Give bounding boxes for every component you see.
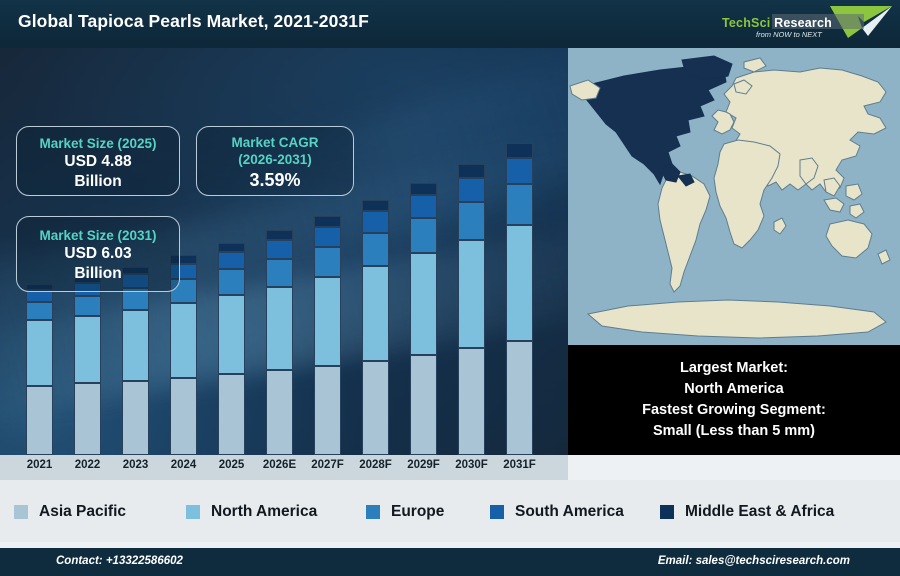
bar-segment-north-america [266,287,293,371]
legend-item-europe[interactable]: Europe [366,503,444,521]
x-axis-label-2031F: 2031F [496,459,544,471]
x-axis-label-2023: 2023 [112,459,160,471]
legend-item-north-america[interactable]: North America [186,503,317,521]
bar-segment-asia-pacific [314,366,341,455]
chart-legend: Asia PacificNorth AmericaEuropeSouth Ame… [0,480,900,542]
logo-tech-text: TechSci [722,16,770,30]
bar-segment-europe [314,247,341,277]
bar-segment-middle-east-africa [266,230,293,240]
header-bar: Global Tapioca Pearls Market, 2021-2031F… [0,0,900,48]
bar-segment-asia-pacific [506,341,533,455]
stat-card-market-size-2031: Market Size (2031) USD 6.03 Billion [16,216,180,292]
stat-label: Market Size (2025) [17,135,179,152]
legend-item-south-america[interactable]: South America [490,503,624,521]
bar-segment-south-america [458,178,485,202]
stat-label: Market CAGR [197,134,353,151]
x-axis-label-2024: 2024 [160,459,208,471]
bar-segment-north-america [362,266,389,361]
bar-segment-asia-pacific [74,383,101,455]
x-axis-label-2025: 2025 [208,459,256,471]
bar-segment-asia-pacific [410,355,437,455]
legend-swatch [490,505,504,519]
bar-2022 [74,276,101,455]
bar-segment-middle-east-africa [458,164,485,178]
x-axis-label-2030F: 2030F [448,459,496,471]
techsci-research-logo: TechSci Research from NOW to NEXT [712,2,894,46]
bar-segment-south-america [410,195,437,218]
bar-2028F [362,200,389,455]
bar-2023 [122,267,149,455]
info-line-2: North America [684,379,783,400]
bar-segment-north-america [458,240,485,348]
logo-wordmark: TechSci Research [722,16,872,30]
footer-bar: Contact: +13322586602 Email: sales@techs… [0,548,900,576]
x-axis: 202120222023202420252026E2027F2028F2029F… [0,455,568,480]
bar-segment-asia-pacific [266,370,293,455]
bar-segment-south-america [506,158,533,184]
bar-segment-middle-east-africa [314,216,341,227]
info-line-3: Fastest Growing Segment: [642,400,826,421]
bar-segment-asia-pacific [362,361,389,455]
stat-value-unit: Billion [17,172,179,192]
x-axis-label-2026E: 2026E [256,459,304,471]
legend-label: Europe [391,503,444,521]
stat-card-market-cagr: Market CAGR (2026-2031) 3.59% [196,126,354,196]
stat-label-period: (2026-2031) [197,151,353,168]
bar-2031F [506,143,533,455]
legend-label: Middle East & Africa [685,503,834,521]
info-line-1: Largest Market: [680,358,788,379]
bar-segment-asia-pacific [458,348,485,455]
logo-tagline: from NOW to NEXT [756,30,822,39]
footer-email: Email: sales@techsciresearch.com [658,555,850,567]
bar-segment-europe [410,218,437,253]
bar-segment-middle-east-africa [362,200,389,212]
bar-segment-asia-pacific [26,386,53,455]
bar-segment-south-america [218,252,245,269]
bar-segment-north-america [122,310,149,381]
bar-segment-europe [458,202,485,240]
bar-segment-north-america [314,277,341,366]
legend-label: North America [211,503,317,521]
footer-contact: Contact: +13322586602 [56,555,183,567]
bar-segment-middle-east-africa [410,183,437,196]
info-line-4: Small (Less than 5 mm) [653,421,815,442]
bar-segment-europe [26,302,53,320]
bar-2029F [410,183,437,455]
chart-panel: Market Size (2025) USD 4.88 Billion Mark… [0,48,568,455]
legend-swatch [14,505,28,519]
bar-segment-asia-pacific [218,374,245,455]
bar-segment-south-america [362,211,389,233]
bar-segment-south-america [266,240,293,259]
page-title: Global Tapioca Pearls Market, 2021-2031F [18,11,369,32]
bar-segment-middle-east-africa [218,243,245,252]
stat-value: USD 6.03 [17,244,179,264]
bar-segment-europe [362,233,389,266]
x-axis-label-2028F: 2028F [352,459,400,471]
legend-swatch [660,505,674,519]
bar-segment-middle-east-africa [506,143,533,158]
legend-swatch [186,505,200,519]
stat-label: Market Size (2031) [17,227,179,244]
bar-segment-europe [266,259,293,287]
bar-2027F [314,216,341,455]
bar-segment-north-america [218,295,245,374]
legend-item-middle-east-africa[interactable]: Middle East & Africa [660,503,834,521]
stat-value-unit: Billion [17,264,179,284]
infographic-root: Global Tapioca Pearls Market, 2021-2031F… [0,0,900,576]
bar-2021 [26,284,53,455]
bar-2026E [266,230,293,455]
legend-item-asia-pacific[interactable]: Asia Pacific [14,503,126,521]
legend-label: South America [515,503,624,521]
x-axis-label-2027F: 2027F [304,459,352,471]
info-callout-box: Largest Market:North AmericaFastest Grow… [568,345,900,455]
bar-segment-north-america [74,316,101,384]
bar-2025 [218,243,245,455]
bar-segment-north-america [506,225,533,341]
logo-research-text: Research [770,16,832,30]
bar-segment-europe [74,296,101,316]
bar-segment-europe [506,184,533,225]
bar-segment-north-america [410,253,437,354]
legend-label: Asia Pacific [39,503,126,521]
bar-2030F [458,164,485,455]
bar-segment-asia-pacific [170,378,197,455]
x-axis-label-2029F: 2029F [400,459,448,471]
bar-segment-north-america [26,320,53,385]
stat-value: USD 4.88 [17,152,179,172]
legend-swatch [366,505,380,519]
bar-segment-south-america [314,227,341,247]
bar-segment-north-america [170,303,197,378]
x-axis-label-2022: 2022 [64,459,112,471]
bar-segment-asia-pacific [122,381,149,455]
bar-segment-europe [218,269,245,295]
stat-value: 3.59% [197,168,353,192]
x-axis-label-2021: 2021 [16,459,64,471]
stat-card-market-size-2025: Market Size (2025) USD 4.88 Billion [16,126,180,196]
world-map [568,48,900,345]
